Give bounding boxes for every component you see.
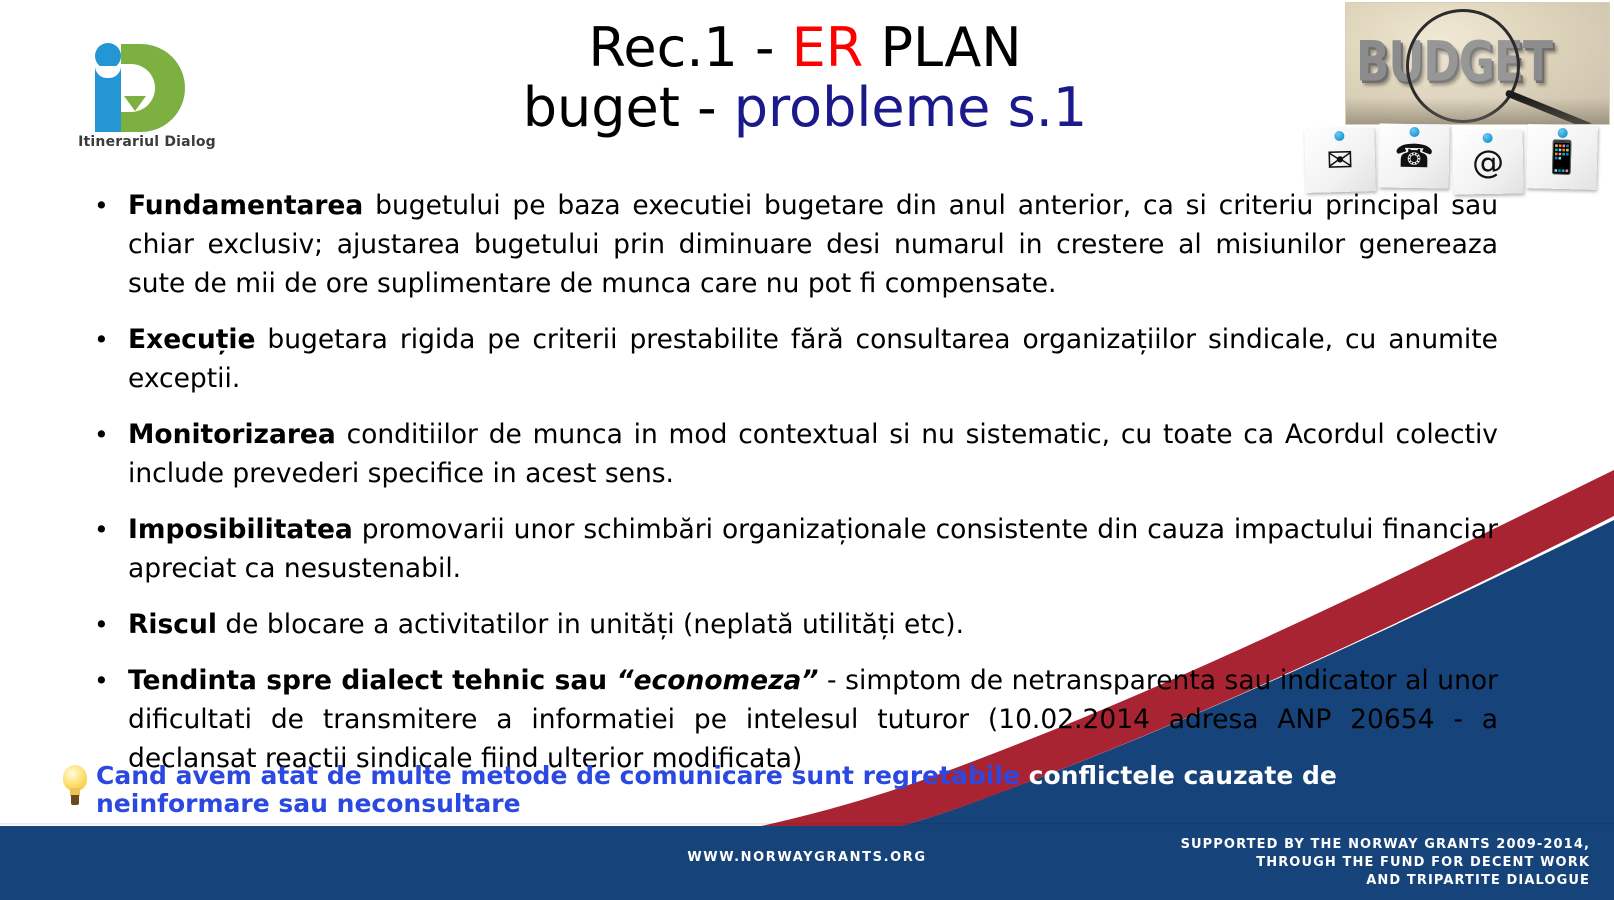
bullet-lead-emphasis: “economeza” <box>617 665 819 696</box>
bullet-marker: • <box>86 415 128 454</box>
conclusion-callout: Cand avem atat de multe metode de comuni… <box>58 762 1498 818</box>
mobile-phone-icon: 📱 <box>1526 124 1598 190</box>
bullet-marker: • <box>86 605 128 644</box>
bullet-text: Execuție bugetara rigida pe criterii pre… <box>128 320 1498 398</box>
conclusion-text-white: conflictele cauzate de <box>1020 761 1337 790</box>
bullet-rest: bugetara rigida pe criterii prestabilite… <box>128 324 1498 394</box>
bullet-text: Imposibilitatea promovarii unor schimbăr… <box>128 510 1498 588</box>
conclusion-text-blue: Cand avem atat de multe metode de comuni… <box>96 761 1020 790</box>
title-line1-part2: PLAN <box>863 16 1021 79</box>
credit-line-2: THROUGH THE FUND FOR DECENT WORK <box>1030 854 1590 872</box>
budget-photo: BUDGET <box>1345 2 1610 125</box>
footer-bar: WWW.NORWAYGRANTS.ORG SUPPORTED BY THE NO… <box>0 826 1614 900</box>
title-line-1: Rec.1 - ER PLAN <box>330 18 1280 78</box>
envelope-icon: ✉ <box>1304 127 1376 193</box>
presentation-slide: Itinerariul Dialog Rec.1 - ER PLAN buget… <box>0 0 1614 900</box>
list-item: • Monitorizarea conditiilor de munca in … <box>86 415 1498 493</box>
contact-icons-group: ✉ ☎ @ 📱 <box>1305 128 1605 194</box>
list-item: • Imposibilitatea promovarii unor schimb… <box>86 510 1498 588</box>
list-item: • Riscul de blocare a activitatilor in u… <box>86 605 1498 644</box>
telephone-icon: ☎ <box>1379 123 1450 188</box>
bullet-rest: de blocare a activitatilor in unități (n… <box>217 609 964 640</box>
title-line1-accent: ER <box>792 16 864 79</box>
logo-mark-id <box>88 40 208 132</box>
title-line-2: buget - probleme s.1 <box>330 78 1280 138</box>
mobile-phone-glyph: 📱 <box>1542 140 1583 173</box>
pin-icon <box>1558 128 1568 138</box>
title-line1-part1: Rec.1 - <box>588 16 791 79</box>
bullet-lead: Tendinta spre dialect tehnic sau <box>128 665 617 696</box>
bullet-list: • Fundamentarea bugetului pe baza execut… <box>86 186 1498 795</box>
at-sign-icon: @ <box>1452 129 1523 194</box>
conclusion-text: Cand avem atat de multe metode de comuni… <box>96 762 1498 818</box>
bullet-lead: Monitorizarea <box>128 419 336 450</box>
organization-logo: Itinerariul Dialog <box>72 40 222 158</box>
credit-line-3: AND TRIPARTITE DIALOGUE <box>1030 872 1590 890</box>
title-line2-accent: probleme s.1 <box>734 76 1087 139</box>
pin-icon <box>1334 131 1344 141</box>
logo-arrow-icon <box>124 96 146 111</box>
credit-line-1: SUPPORTED BY THE NORWAY GRANTS 2009-2014… <box>1030 836 1590 854</box>
lightbulb-icon <box>58 764 92 812</box>
bullet-marker: • <box>86 186 128 225</box>
bullet-marker: • <box>86 320 128 359</box>
slide-title: Rec.1 - ER PLAN buget - probleme s.1 <box>330 18 1280 139</box>
bullet-marker: • <box>86 510 128 549</box>
telephone-glyph: ☎ <box>1394 140 1434 173</box>
envelope-glyph: ✉ <box>1326 144 1354 177</box>
bullet-lead: Fundamentarea <box>128 190 363 221</box>
photo-shadow <box>1346 98 1609 124</box>
lightbulb-base <box>71 795 79 805</box>
title-line2-part1: buget - <box>523 76 734 139</box>
list-item: • Fundamentarea bugetului pe baza execut… <box>86 186 1498 303</box>
bullet-marker: • <box>86 661 128 700</box>
bullet-text: Monitorizarea conditiilor de munca in mo… <box>128 415 1498 493</box>
list-item: • Execuție bugetara rigida pe criterii p… <box>86 320 1498 398</box>
footer-funding-credit: SUPPORTED BY THE NORWAY GRANTS 2009-2014… <box>1030 836 1590 890</box>
conclusion-line-2: neinformare sau neconsultare <box>96 790 1498 818</box>
bullet-text: Riscul de blocare a activitatilor in uni… <box>128 605 1498 644</box>
at-sign-glyph: @ <box>1472 146 1505 179</box>
bullet-lead: Imposibilitatea <box>128 514 353 545</box>
bullet-lead: Execuție <box>128 324 255 355</box>
bullet-text: Fundamentarea bugetului pe baza executie… <box>128 186 1498 303</box>
pin-icon <box>1409 127 1419 137</box>
pin-icon <box>1483 133 1493 143</box>
bullet-lead: Riscul <box>128 609 217 640</box>
logo-caption: Itinerariul Dialog <box>72 134 222 150</box>
